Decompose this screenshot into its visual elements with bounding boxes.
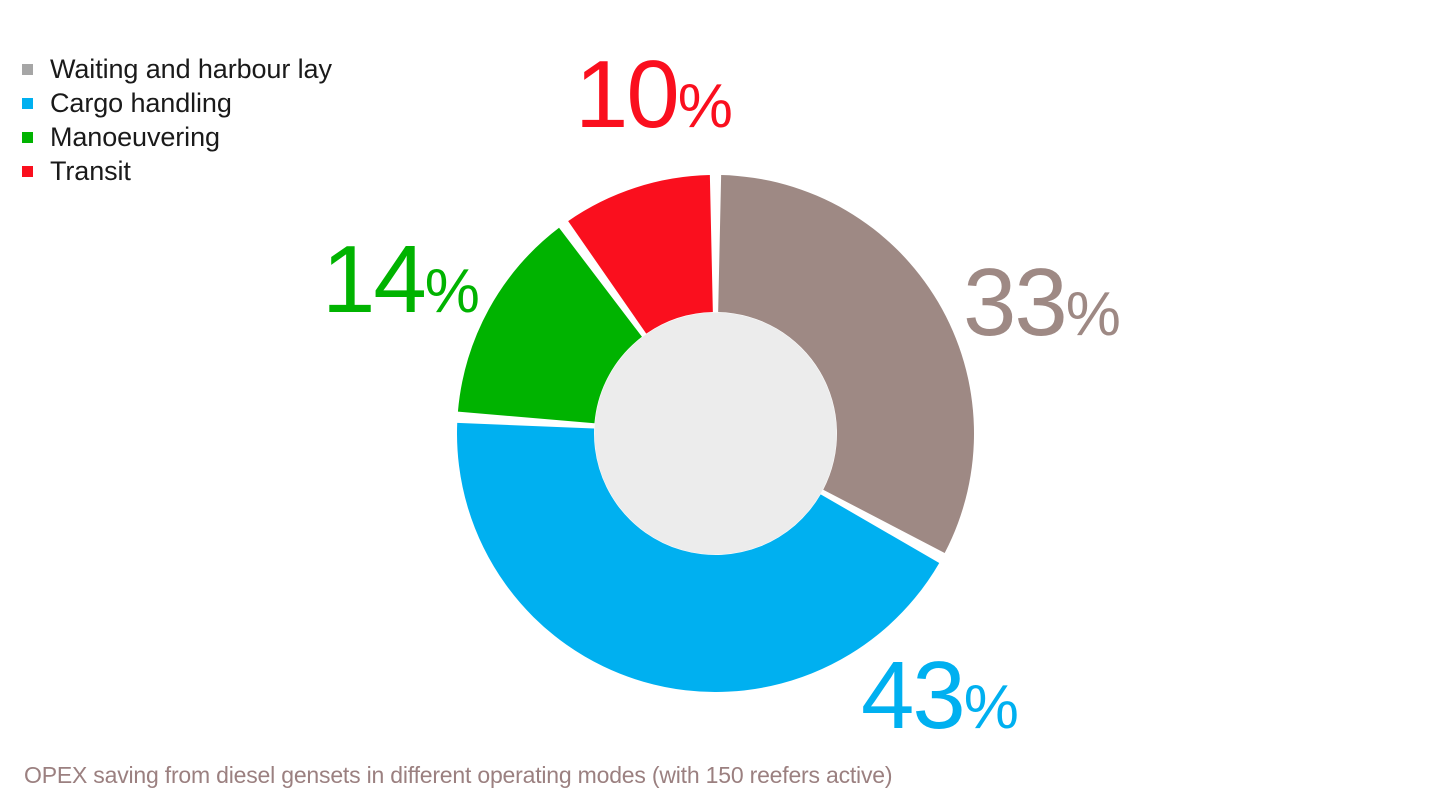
value-label-manoeuvering-percent-sign: % — [425, 257, 479, 326]
value-label-transit: 10% — [575, 47, 732, 143]
value-label-manoeuvering: 14% — [322, 232, 479, 328]
donut-hole — [595, 313, 837, 555]
donut-chart — [457, 175, 974, 692]
value-label-cargo-percent-sign: % — [964, 673, 1018, 742]
chart-area: 10% 14% 33% 43% — [0, 0, 1440, 760]
value-label-transit-number: 10 — [575, 41, 678, 148]
chart-caption: OPEX saving from diesel gensets in diffe… — [24, 762, 892, 790]
value-label-waiting-percent-sign: % — [1066, 280, 1120, 349]
value-label-cargo-number: 43 — [861, 642, 964, 749]
value-label-cargo-handling: 43% — [861, 648, 1018, 744]
value-label-transit-percent-sign: % — [678, 72, 732, 141]
value-label-waiting-and-harbour-lay: 33% — [963, 255, 1120, 351]
value-label-waiting-number: 33 — [963, 249, 1066, 356]
value-label-manoeuvering-number: 14 — [322, 226, 425, 333]
